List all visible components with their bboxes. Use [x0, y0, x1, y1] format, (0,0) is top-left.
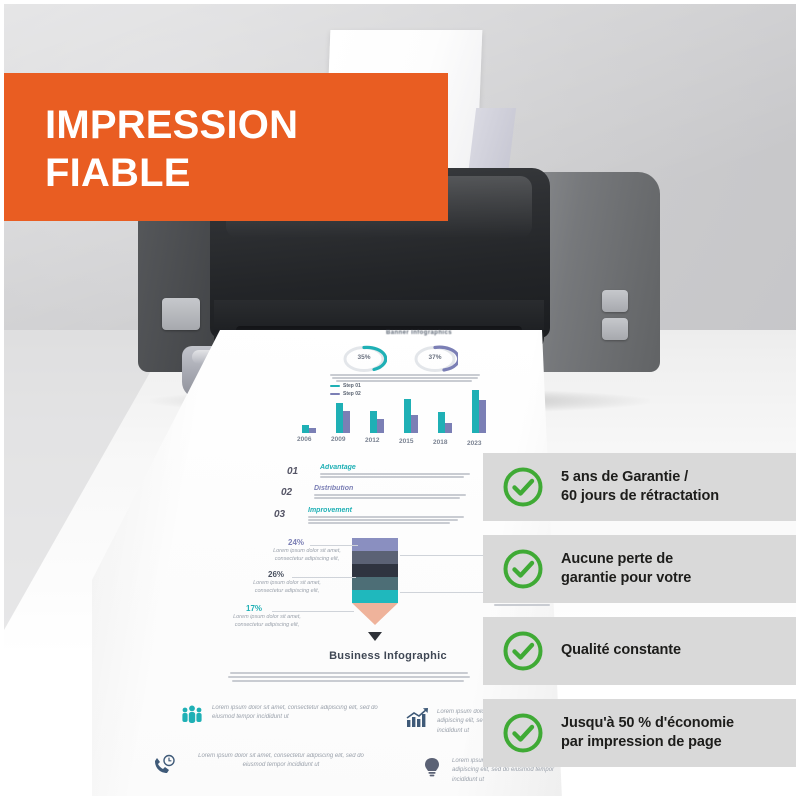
bar — [370, 411, 377, 433]
marketing-image: Banner Infographics 35% 37% Step 01 — [0, 0, 800, 800]
pencil-segment — [352, 590, 398, 603]
pencil-stat-label: 26% — [268, 570, 284, 579]
bar — [377, 419, 384, 433]
donut-chart-1: 35% — [341, 344, 387, 374]
bar — [309, 428, 316, 433]
paragraph-line — [230, 672, 468, 674]
callout-text: Jusqu'à 50 % d'économiepar impression de… — [561, 714, 734, 753]
leader-line — [292, 577, 356, 578]
pencil-lead — [368, 632, 382, 641]
list-number: 01 — [287, 466, 298, 477]
pencil-segment — [352, 564, 398, 577]
lightbulb-icon — [420, 756, 444, 778]
callout-2: Aucune perte degarantie pour votre — [483, 535, 796, 603]
growth-chart-icon — [405, 707, 429, 729]
headline-line-1: IMPRESSION — [45, 103, 298, 147]
donut-chart-2: 37% — [412, 344, 458, 374]
paragraph-line — [330, 374, 480, 376]
bar — [472, 390, 479, 433]
bar — [411, 415, 418, 433]
phone-clock-icon — [152, 754, 176, 776]
list-number: 03 — [274, 509, 285, 520]
pencil-segment — [352, 538, 398, 551]
feature-item-3: Lorem ipsum dolor sit amet, consectetur … — [186, 752, 376, 771]
paragraph-line — [320, 476, 464, 478]
business-infographic-title: Business Infographic — [298, 650, 478, 662]
paragraph-line — [308, 522, 450, 524]
printout-title: Banner Infographics — [360, 330, 478, 336]
page-title: IMPRESSIONFIABLE — [45, 101, 298, 197]
pencil-stat-label: 24% — [288, 538, 304, 547]
feature-item-1: Lorem ipsum dolor sit amet, consectetur … — [212, 704, 387, 723]
pencil-infographic — [352, 538, 398, 625]
check-circle-icon — [502, 712, 544, 754]
people-group-icon — [180, 703, 204, 725]
bar — [404, 399, 411, 433]
axis-tick-label: 2009 — [331, 436, 345, 443]
headline-line-2: FIABLE — [45, 151, 191, 195]
leader-line — [400, 555, 496, 556]
axis-tick-label: 2006 — [297, 436, 311, 443]
axis-tick-label: 2015 — [399, 438, 413, 445]
check-circle-icon — [502, 548, 544, 590]
bar — [445, 423, 452, 433]
bar-chart — [300, 385, 500, 433]
paragraph-line — [232, 680, 464, 682]
callout-3: Qualité constante — [483, 617, 796, 685]
list-heading: Improvement — [308, 507, 352, 514]
paragraph-line — [308, 516, 464, 518]
bar — [438, 412, 445, 433]
donut-label-1: 35% — [341, 354, 387, 361]
check-circle-icon — [502, 466, 544, 508]
callout-text: 5 ans de Garantie /60 jours de rétractat… — [561, 468, 719, 507]
callout-4: Jusqu'à 50 % d'économiepar impression de… — [483, 699, 796, 767]
paragraph-line — [336, 380, 472, 382]
pencil-tip — [352, 603, 398, 625]
leader-line — [400, 592, 496, 593]
pencil-stat-text: Lorem ipsum dolor sit amet, consectetur … — [268, 548, 346, 564]
paragraph-line — [308, 519, 458, 521]
list-heading: Distribution — [314, 485, 353, 492]
callout-text: Qualité constante — [561, 641, 681, 660]
leader-line — [310, 545, 358, 546]
axis-tick-label: 2012 — [365, 437, 379, 444]
check-circle-icon — [502, 630, 544, 672]
leader-line — [272, 611, 354, 612]
paragraph-line — [314, 494, 466, 496]
callout-text: Aucune perte degarantie pour votre — [561, 550, 691, 589]
pencil-stat-text: Lorem ipsum dolor sit amet, consectetur … — [248, 580, 326, 596]
bar — [336, 403, 343, 433]
paragraph-line — [494, 604, 550, 606]
pencil-stat-text: Lorem ipsum dolor sit amet, consectetur … — [228, 614, 306, 630]
paragraph-line — [320, 473, 470, 475]
bar — [302, 425, 309, 433]
axis-tick-label: 2018 — [433, 439, 447, 446]
pencil-segment — [352, 577, 398, 590]
list-heading: Advantage — [320, 464, 356, 471]
feature-text: Lorem ipsum dolor sit amet, consectetur … — [186, 752, 376, 771]
paragraph-line — [314, 497, 460, 499]
bar — [343, 411, 350, 433]
feature-text: Lorem ipsum dolor sit amet, consectetur … — [212, 704, 387, 723]
pencil-segment — [352, 551, 398, 564]
donut-label-2: 37% — [412, 354, 458, 361]
headline-banner: IMPRESSIONFIABLE — [0, 73, 448, 221]
pencil-stat-label: 17% — [246, 604, 262, 613]
paragraph-line — [332, 377, 478, 379]
list-number: 02 — [281, 487, 292, 498]
callout-1: 5 ans de Garantie /60 jours de rétractat… — [483, 453, 796, 521]
axis-tick-label: 2023 — [467, 440, 481, 447]
paragraph-line — [228, 676, 470, 678]
bar — [479, 400, 486, 433]
